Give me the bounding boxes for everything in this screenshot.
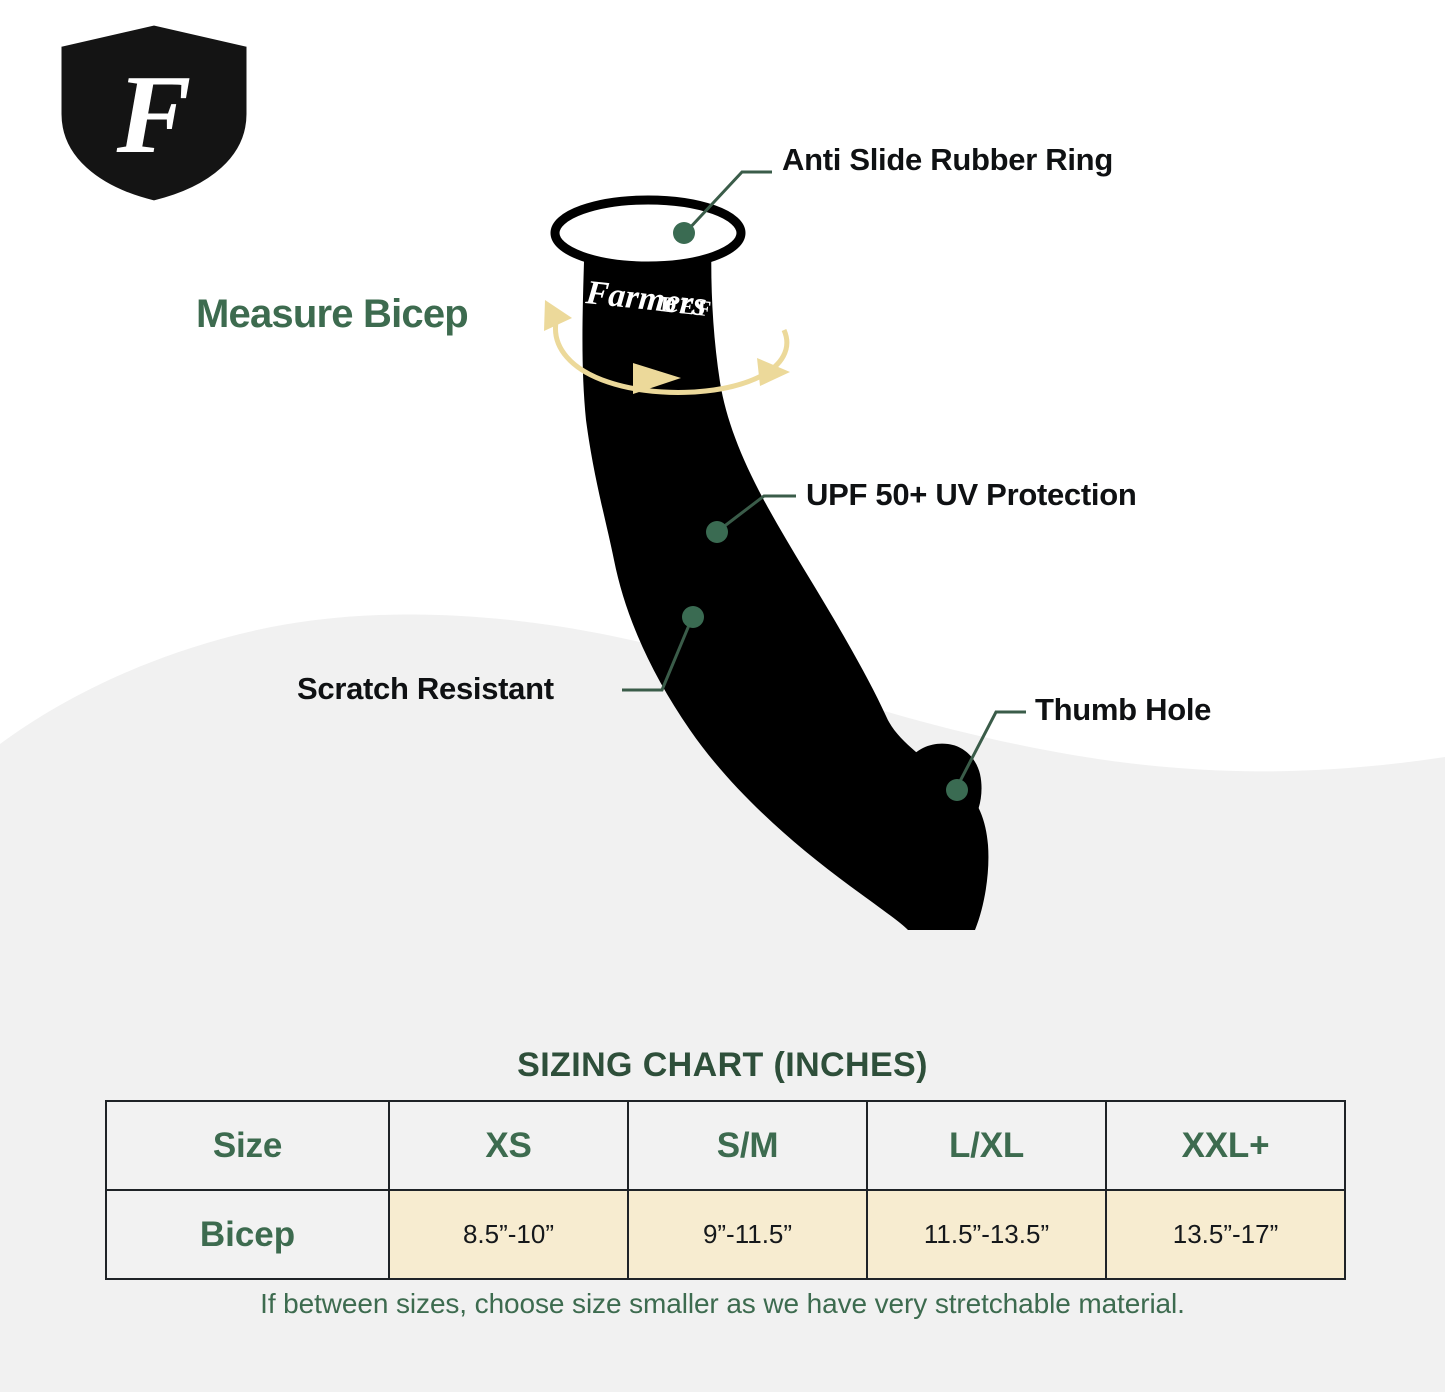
marker-scratch: [682, 606, 704, 628]
header-cell-size: Size: [106, 1101, 389, 1190]
callout-label-upf-uv-protection: UPF 50+ UV Protection: [806, 477, 1136, 513]
callout-label-anti-slide-rubber-ring: Anti Slide Rubber Ring: [782, 142, 1113, 178]
cell-bicep-xs: 8.5”-10”: [389, 1190, 628, 1279]
marker-upf: [706, 521, 728, 543]
header-cell-xs: XS: [389, 1101, 628, 1190]
sizing-chart-note: If between sizes, choose size smaller as…: [0, 1288, 1445, 1320]
callout-label-thumb-hole: Thumb Hole: [1035, 692, 1211, 728]
table-header-row: Size XS S/M L/XL XXL+: [106, 1101, 1345, 1190]
header-cell-lxl: L/XL: [867, 1101, 1106, 1190]
callout-label-measure-bicep: Measure Bicep: [196, 292, 468, 337]
row-label-bicep: Bicep: [106, 1190, 389, 1279]
callout-label-scratch-resistant: Scratch Resistant: [297, 671, 554, 707]
marker-thumb: [946, 779, 968, 801]
cell-bicep-xxl: 13.5”-17”: [1106, 1190, 1345, 1279]
marker-anti-slide: [673, 222, 695, 244]
sizing-chart-table: Size XS S/M L/XL XXL+ Bicep 8.5”-10” 9”-…: [105, 1100, 1346, 1280]
header-cell-xxl: XXL+: [1106, 1101, 1345, 1190]
arm-sleeve-illustration: Farmers DEFENSE: [0, 0, 1445, 1000]
sizing-chart-title: SIZING CHART (INCHES): [0, 1046, 1445, 1085]
cell-bicep-sm: 9”-11.5”: [628, 1190, 867, 1279]
product-infographic: F Farmers DEFENSE: [0, 0, 1445, 1392]
header-cell-sm: S/M: [628, 1101, 867, 1190]
cell-bicep-lxl: 11.5”-13.5”: [867, 1190, 1106, 1279]
table-row: Bicep 8.5”-10” 9”-11.5” 11.5”-13.5” 13.5…: [106, 1190, 1345, 1279]
